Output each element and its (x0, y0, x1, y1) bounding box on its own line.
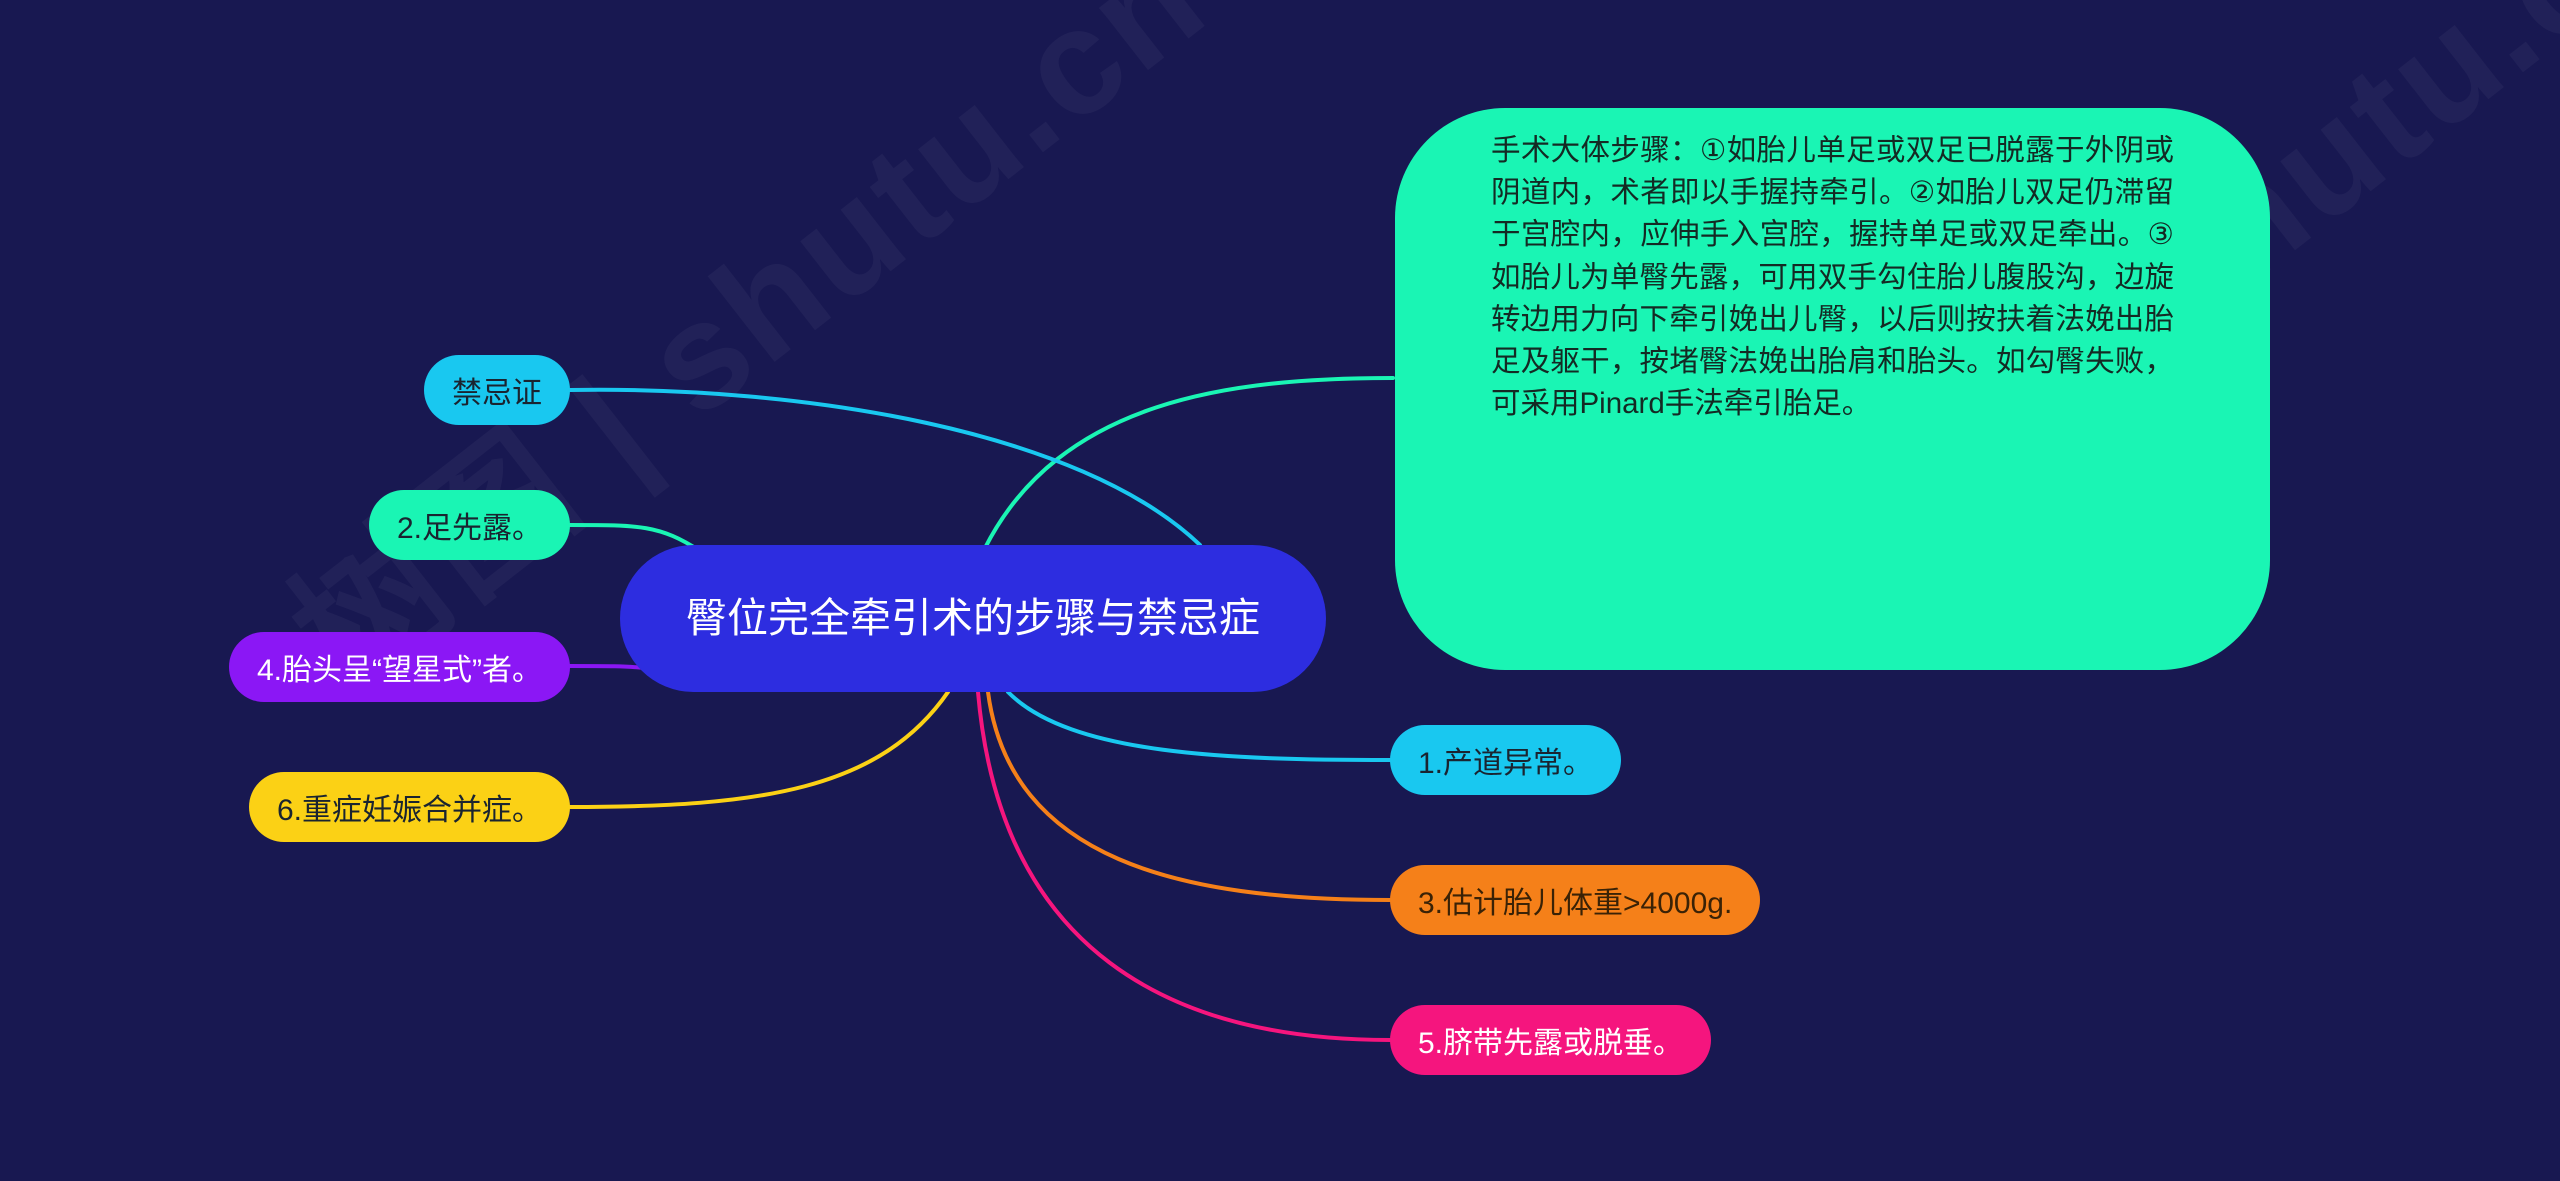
content-box-surgical-steps[interactable]: 手术大体步骤：①如胎儿单足或双足已脱露于外阴或阴道内，术者即以手握持牵引。②如胎… (1395, 108, 2270, 670)
node-star-gazing-head[interactable]: 4.胎头呈“望星式”者。 (229, 632, 570, 702)
node-cord-prolapse[interactable]: 5.脐带先露或脱垂。 (1390, 1005, 1711, 1075)
node-star-gazing-head-label: 4.胎头呈“望星式”者。 (257, 645, 542, 689)
node-severe-pregnancy-complication-label: 6.重症妊娠合并症。 (277, 785, 542, 829)
node-contraindication-label: 禁忌证 (452, 368, 542, 412)
node-severe-pregnancy-complication[interactable]: 6.重症妊娠合并症。 (249, 772, 570, 842)
root-node-label: 臀位完全牵引术的步骤与禁忌症 (686, 591, 1260, 646)
node-cord-prolapse-label: 5.脐带先露或脱垂。 (1418, 1018, 1683, 1062)
node-fetal-weight[interactable]: 3.估计胎儿体重>4000g. (1390, 865, 1760, 935)
connector-fetal-weight-to-root (988, 692, 1390, 900)
node-birth-canal-abnormality[interactable]: 1.产道异常。 (1390, 725, 1621, 795)
mindmap-canvas: 树图 | shutu.cn 树图 | shutu.cn 手术大体步骤：①如胎儿单… (0, 0, 2560, 1181)
node-fetal-weight-label: 3.估计胎儿体重>4000g. (1418, 878, 1732, 922)
connector-birth-canal-abnormality-to-root (1008, 692, 1390, 760)
node-birth-canal-abnormality-label: 1.产道异常。 (1418, 738, 1593, 782)
connector-severe-pregnancy-complication-to-root (570, 692, 948, 807)
node-contraindication[interactable]: 禁忌证 (424, 355, 570, 425)
content-box-text: 手术大体步骤：①如胎儿单足或双足已脱露于外阴或阴道内，术者即以手握持牵引。②如胎… (1491, 130, 2174, 425)
connector-cord-prolapse-to-root (978, 692, 1390, 1040)
node-foot-presentation-label: 2.足先露。 (397, 503, 542, 547)
connector-root-to-content-box (985, 378, 1393, 548)
root-node[interactable]: 臀位完全牵引术的步骤与禁忌症 (620, 545, 1326, 692)
connector-contraindication-to-root (570, 390, 1200, 545)
node-foot-presentation[interactable]: 2.足先露。 (369, 490, 570, 560)
